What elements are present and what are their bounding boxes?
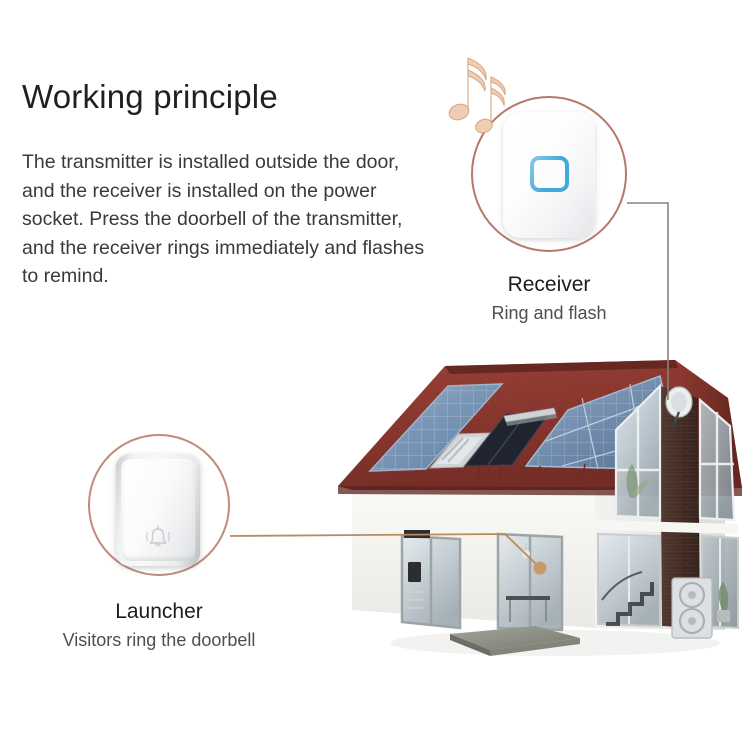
receiver-device[interactable]: [503, 112, 595, 238]
bell-icon: [142, 525, 174, 551]
launcher-device[interactable]: [116, 454, 200, 566]
launcher-title: Launcher: [59, 600, 259, 624]
receiver-title: Receiver: [449, 273, 649, 297]
receiver-button-indicator[interactable]: [530, 156, 569, 192]
receiver-subtitle: Ring and flash: [449, 303, 649, 324]
music-notes-icon: [443, 56, 515, 136]
air-conditioner-unit: [672, 578, 712, 638]
house-left-sliding-door: [402, 530, 460, 628]
house-center-door: [498, 534, 562, 630]
infographic-page: Working principle The transmitter is ins…: [0, 0, 750, 750]
page-title: Working principle: [22, 78, 278, 116]
launcher-button-face[interactable]: [121, 459, 195, 561]
launcher-subtitle: Visitors ring the doorbell: [34, 630, 284, 651]
description-paragraph: The transmitter is installed outside the…: [22, 148, 432, 291]
house-illustration: [330, 338, 750, 678]
